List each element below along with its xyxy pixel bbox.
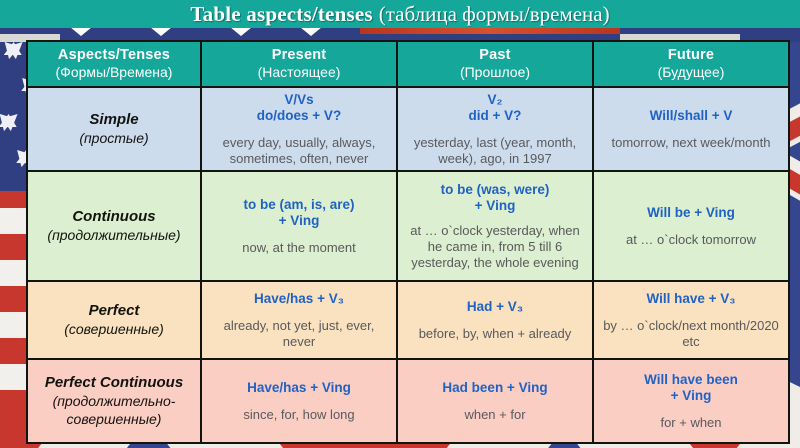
cell-present-simple: V/Vs do/does + V? every day, usually, al…	[201, 87, 397, 171]
markers-past-perfect: before, by, when + already	[404, 326, 586, 342]
page-title-russian: (таблица формы/времена)	[379, 2, 610, 27]
markers-present-perfect: already, not yet, just, ever, never	[208, 318, 390, 350]
cell-future-perfect-continuous: Will have been + Ving for + when	[593, 359, 789, 443]
header-aspects-tenses-ru: (Формы/Времена)	[34, 64, 194, 81]
header-future-en: Future	[600, 47, 782, 64]
tenses-table: Aspects/Tenses (Формы/Времена) Present (…	[26, 40, 790, 444]
formula-past-simple-2: did + V?	[404, 108, 586, 124]
cell-present-perfect-continuous: Have/has + Ving since, for, how long	[201, 359, 397, 443]
aspect-continuous-en: Continuous	[34, 208, 194, 226]
cell-future-perfect: Will have + V₃ by … o`clock/next month/2…	[593, 281, 789, 359]
formula-past-perfect-1: Had + V₃	[404, 299, 586, 315]
aspect-perfect-continuous-en: Perfect Continuous	[34, 374, 194, 392]
header-aspects-tenses: Aspects/Tenses (Формы/Времена)	[27, 41, 201, 87]
aspect-cell-continuous: Continuous (продолжительные)	[27, 171, 201, 281]
table-row-perfect: Perfect (совершенные) Have/has + V₃ alre…	[27, 281, 789, 359]
markers-future-continuous: at … o`clock tomorrow	[600, 232, 782, 248]
header-present: Present (Настоящее)	[201, 41, 397, 87]
aspect-cell-perfect: Perfect (совершенные)	[27, 281, 201, 359]
aspect-continuous-ru: (продолжительные)	[34, 226, 194, 244]
formula-past-perfect-continuous-1: Had been + Ving	[404, 380, 586, 396]
markers-future-simple: tomorrow, next week/month	[600, 135, 782, 151]
cell-present-continuous: to be (am, is, are) + Ving now, at the m…	[201, 171, 397, 281]
header-past-en: Past	[404, 47, 586, 64]
formula-past-continuous-2: + Ving	[404, 198, 586, 214]
header-future: Future (Будущее)	[593, 41, 789, 87]
formula-present-simple-2: do/does + V?	[208, 108, 390, 124]
table-row-perfect-continuous: Perfect Continuous (продолжительно-совер…	[27, 359, 789, 443]
markers-present-perfect-continuous: since, for, how long	[208, 407, 390, 423]
markers-future-perfect: by … o`clock/next month/2020 etc	[600, 318, 782, 350]
markers-present-simple: every day, usually, always, sometimes, o…	[208, 135, 390, 167]
header-present-ru: (Настоящее)	[208, 64, 390, 81]
aspect-perfect-ru: (совершенные)	[34, 320, 194, 338]
cell-past-perfect-continuous: Had been + Ving when + for	[397, 359, 593, 443]
formula-present-perfect-1: Have/has + V₃	[208, 291, 390, 307]
aspect-perfect-en: Perfect	[34, 302, 194, 320]
cell-future-continuous: Will be + Ving at … o`clock tomorrow	[593, 171, 789, 281]
aspect-perfect-continuous-ru: (продолжительно-совершенные)	[34, 392, 194, 428]
aspect-cell-perfect-continuous: Perfect Continuous (продолжительно-совер…	[27, 359, 201, 443]
header-present-en: Present	[208, 47, 390, 64]
markers-past-continuous: at … o`clock yesterday, when he came in,…	[404, 223, 586, 271]
table-row-simple: Simple (простые) V/Vs do/does + V? every…	[27, 87, 789, 171]
header-past-ru: (Прошлое)	[404, 64, 586, 81]
formula-future-simple-1: Will/shall + V	[600, 108, 782, 124]
markers-past-simple: yesterday, last (year, month, week), ago…	[404, 135, 586, 167]
formula-future-perfect-continuous-2: + Ving	[600, 388, 782, 404]
formula-past-simple-1: V₂	[404, 92, 586, 108]
page-title-english: Table aspects/tenses	[190, 2, 372, 27]
header-past: Past (Прошлое)	[397, 41, 593, 87]
table-header: Aspects/Tenses (Формы/Времена) Present (…	[27, 41, 789, 87]
markers-past-perfect-continuous: when + for	[404, 407, 586, 423]
cell-past-simple: V₂ did + V? yesterday, last (year, month…	[397, 87, 593, 171]
cell-future-simple: Will/shall + V tomorrow, next week/month	[593, 87, 789, 171]
cell-present-perfect: Have/has + V₃ already, not yet, just, ev…	[201, 281, 397, 359]
aspect-cell-simple: Simple (простые)	[27, 87, 201, 171]
formula-future-perfect-1: Will have + V₃	[600, 291, 782, 307]
formula-present-continuous-2: + Ving	[208, 213, 390, 229]
cell-past-perfect: Had + V₃ before, by, when + already	[397, 281, 593, 359]
page-title: Table aspects/tenses (таблица формы/врем…	[0, 0, 800, 28]
formula-present-perfect-continuous-1: Have/has + Ving	[208, 380, 390, 396]
header-future-ru: (Будущее)	[600, 64, 782, 81]
markers-future-perfect-continuous: for + when	[600, 415, 782, 431]
aspect-simple-en: Simple	[34, 111, 194, 129]
formula-future-continuous-1: Will be + Ving	[600, 205, 782, 221]
aspect-simple-ru: (простые)	[34, 129, 194, 147]
formula-past-continuous-1: to be (was, were)	[404, 182, 586, 198]
table-header-row: Aspects/Tenses (Формы/Времена) Present (…	[27, 41, 789, 87]
cell-past-continuous: to be (was, were) + Ving at … o`clock ye…	[397, 171, 593, 281]
formula-future-perfect-continuous-1: Will have been	[600, 372, 782, 388]
formula-present-simple-1: V/Vs	[208, 92, 390, 108]
header-aspects-tenses-en: Aspects/Tenses	[34, 47, 194, 64]
markers-present-continuous: now, at the moment	[208, 240, 390, 256]
formula-present-continuous-1: to be (am, is, are)	[208, 197, 390, 213]
table-row-continuous: Continuous (продолжительные) to be (am, …	[27, 171, 789, 281]
